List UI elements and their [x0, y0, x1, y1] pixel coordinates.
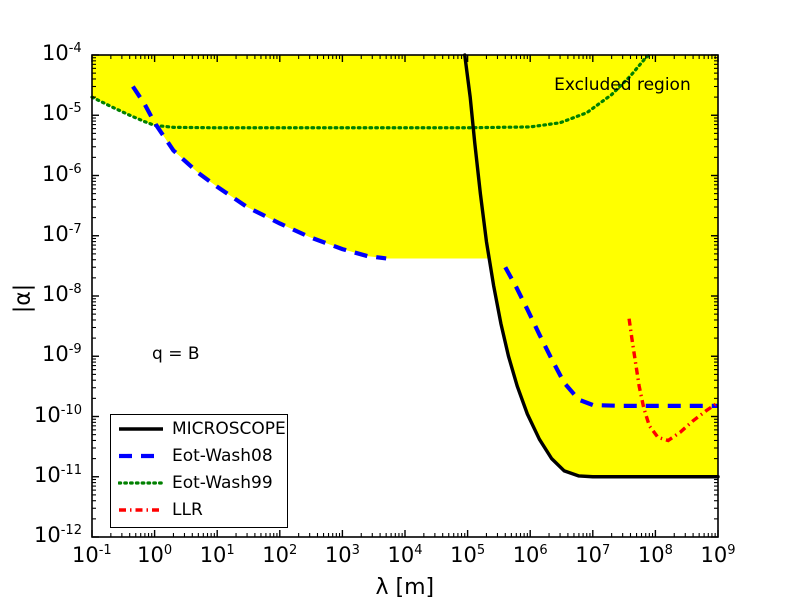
y-axis-title-wrap: |α| — [2, 268, 42, 328]
x-tick-label: 105 — [450, 543, 485, 567]
legend-swatch-dotted — [118, 473, 164, 493]
legend-item-llr[interactable]: LLR — [111, 496, 287, 523]
y-tick-label: 10-5 — [42, 101, 82, 125]
legend-swatch-solid — [118, 419, 164, 439]
legend-label-llr: LLR — [172, 500, 203, 520]
legend[interactable]: MICROSCOPE Eot-Wash08 Eot-Wash99 LLR — [110, 414, 288, 528]
legend-item-eot-wash99[interactable]: Eot-Wash99 — [111, 469, 287, 496]
alpha-lambda-constraint-plot: 10-1100101102103104105106107108109 10-41… — [0, 0, 800, 600]
legend-item-microscope[interactable]: MICROSCOPE — [111, 415, 287, 442]
excluded-region-label: Excluded region — [554, 75, 691, 95]
x-tick-label: 109 — [701, 543, 736, 567]
legend-swatch-dashdot — [118, 500, 164, 520]
x-tick-label: 107 — [575, 543, 610, 567]
x-axis-title: λ [m] — [376, 575, 435, 600]
legend-label-eot-wash08: Eot-Wash08 — [172, 446, 273, 466]
y-tick-label: 10-10 — [34, 403, 82, 427]
legend-swatch-dashed — [118, 446, 164, 466]
y-tick-label: 10-8 — [42, 282, 82, 306]
y-tick-label: 10-4 — [42, 41, 82, 65]
x-tick-label: 108 — [638, 543, 673, 567]
y-tick-label: 10-7 — [42, 222, 82, 246]
x-tick-label: 104 — [388, 543, 423, 567]
y-tick-label: 10-12 — [34, 523, 82, 547]
y-tick-label: 10-11 — [34, 463, 82, 487]
y-tick-label: 10-6 — [42, 162, 82, 186]
y-axis-title: |α| — [11, 264, 36, 334]
x-tick-label: 100 — [137, 543, 172, 567]
x-tick-label: 103 — [325, 543, 360, 567]
legend-item-eot-wash08[interactable]: Eot-Wash08 — [111, 442, 287, 469]
legend-label-microscope: MICROSCOPE — [172, 419, 286, 439]
x-tick-label: 101 — [200, 543, 235, 567]
y-tick-label: 10-9 — [42, 342, 82, 366]
x-tick-label: 102 — [262, 543, 297, 567]
charge-type-label: q = B — [152, 344, 200, 364]
x-tick-label: 106 — [513, 543, 548, 567]
legend-label-eot-wash99: Eot-Wash99 — [172, 473, 273, 493]
